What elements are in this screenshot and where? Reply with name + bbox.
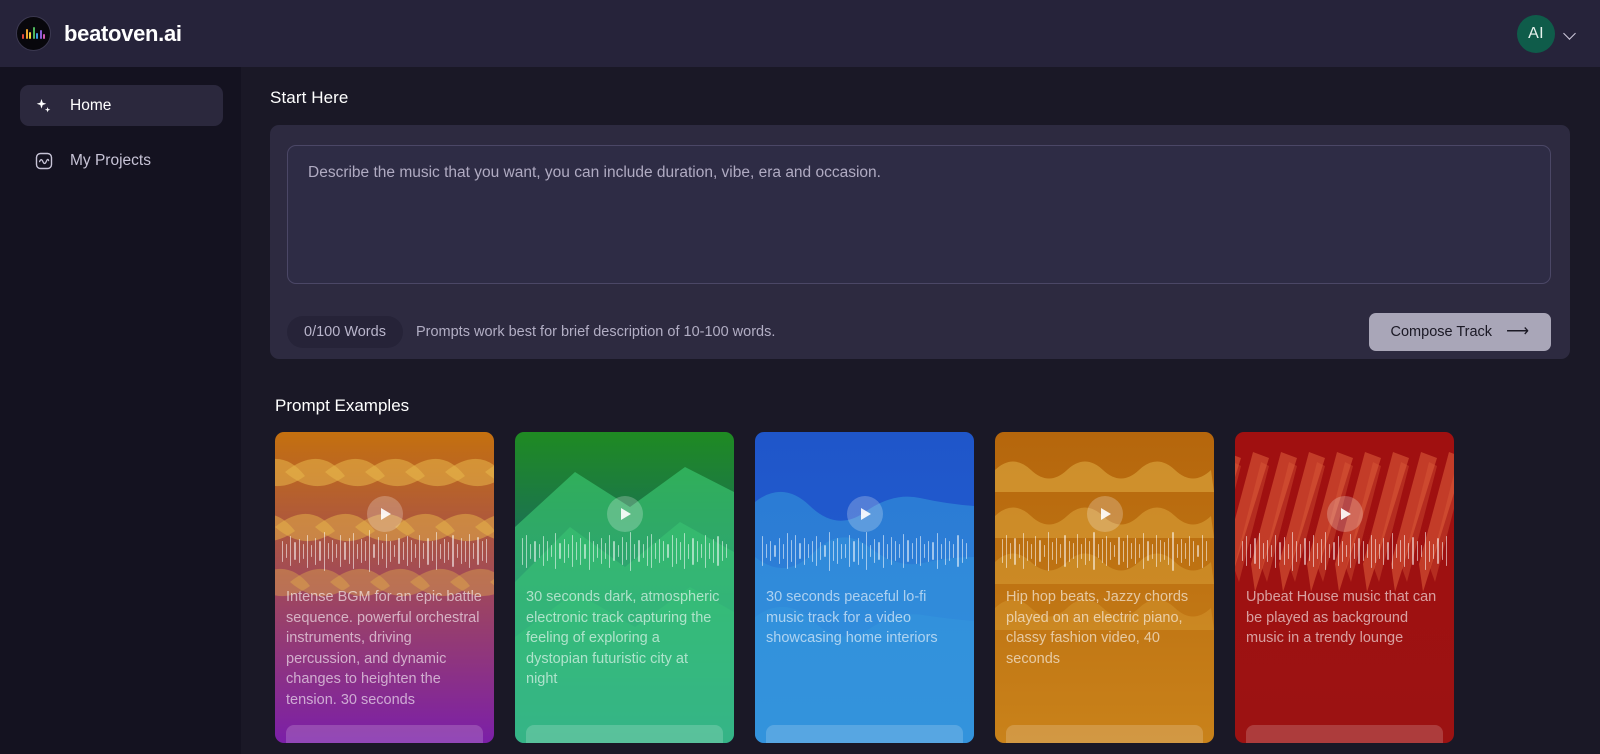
waveform-bar bbox=[713, 539, 714, 563]
waveform-bar bbox=[1358, 538, 1359, 564]
waveform-bar bbox=[1185, 543, 1186, 560]
waveform-bar bbox=[386, 534, 387, 569]
sidebar: Home My Projects bbox=[0, 67, 241, 754]
waveform-bar bbox=[1329, 544, 1330, 558]
waveform-bar bbox=[1321, 539, 1322, 563]
waveform-bar bbox=[357, 544, 358, 559]
waveform-bar bbox=[866, 532, 867, 570]
waveform-bar bbox=[1371, 535, 1372, 568]
waveform-bar bbox=[1296, 541, 1297, 562]
waveform-bar bbox=[1396, 544, 1397, 558]
waveform-bar bbox=[1346, 545, 1347, 557]
waveform-bar bbox=[1288, 544, 1289, 559]
waveform-bar bbox=[770, 541, 771, 561]
waveform-bar bbox=[290, 536, 291, 566]
waveform-bar bbox=[766, 544, 767, 558]
waveform-bar bbox=[403, 542, 404, 560]
waveform-bar bbox=[916, 538, 917, 564]
waveform-bar bbox=[1284, 537, 1285, 566]
waveform-bar bbox=[1442, 542, 1443, 560]
prompt-example-card[interactable]: Hip hop beats, Jazzy chords played on an… bbox=[995, 432, 1214, 743]
prompt-hint: Prompts work best for brief description … bbox=[416, 324, 775, 340]
waveform-bar bbox=[722, 541, 723, 561]
waveform-bar bbox=[543, 536, 544, 566]
waveform-bar bbox=[1002, 539, 1003, 563]
waveform-bar bbox=[461, 538, 462, 564]
waveform-bar bbox=[1118, 537, 1119, 566]
waveform-bar bbox=[315, 538, 316, 565]
logo-bar bbox=[36, 33, 38, 39]
waveform-bar bbox=[941, 544, 942, 559]
waveform-bar bbox=[1421, 545, 1422, 557]
waveform-bar bbox=[1085, 538, 1086, 565]
waveform-bar bbox=[1089, 541, 1090, 561]
waveform-bar bbox=[1060, 544, 1061, 558]
waveform-bar bbox=[282, 541, 283, 562]
waveform-bar bbox=[568, 544, 569, 558]
waveform-bar bbox=[783, 544, 784, 559]
card-waveform bbox=[282, 529, 487, 573]
waveform-bar bbox=[584, 544, 585, 559]
waveform-bar bbox=[1338, 536, 1339, 566]
waveform-bar bbox=[564, 539, 565, 563]
waveform-bar bbox=[411, 540, 412, 563]
waveform-bar bbox=[373, 544, 374, 558]
card-prompt-text: 30 seconds peaceful lo-fi music track fo… bbox=[766, 587, 963, 649]
waveform-bar bbox=[1069, 541, 1070, 562]
waveform-bar bbox=[328, 543, 329, 560]
waveform-bar bbox=[1425, 532, 1426, 570]
waveform-bar bbox=[593, 541, 594, 562]
waveform-bar bbox=[779, 538, 780, 564]
waveform-bar bbox=[448, 542, 449, 560]
waveform-bar bbox=[1325, 532, 1326, 570]
waveform-bar bbox=[643, 544, 644, 558]
card-prompt-text: Upbeat House music that can be played as… bbox=[1246, 587, 1443, 649]
waveform-bar bbox=[787, 533, 788, 569]
sidebar-item-my-projects[interactable]: My Projects bbox=[20, 140, 223, 181]
waveform-bar bbox=[1160, 540, 1161, 563]
waveform-bar bbox=[394, 545, 395, 557]
app-header: beatoven.ai AI bbox=[0, 0, 1600, 67]
play-icon[interactable] bbox=[607, 496, 643, 532]
waveform-bar bbox=[589, 532, 590, 570]
equalizer-logo-icon bbox=[16, 16, 51, 51]
waveform-bar bbox=[1313, 535, 1314, 567]
waveform-bar bbox=[672, 535, 673, 567]
waveform-bar bbox=[1202, 535, 1203, 568]
waveform-bar bbox=[684, 533, 685, 569]
waveform-bar bbox=[432, 541, 433, 561]
waveform-bar bbox=[547, 541, 548, 561]
waveform-bar bbox=[482, 541, 483, 561]
waveform-bar bbox=[580, 538, 581, 565]
waveform-bar bbox=[849, 535, 850, 567]
waveform-bar bbox=[1052, 542, 1053, 560]
waveform-bar bbox=[1446, 536, 1447, 566]
waveform-bar bbox=[928, 541, 929, 562]
prompt-examples-title: Prompt Examples bbox=[275, 396, 1570, 416]
card-prompt-text: Hip hop beats, Jazzy chords played on an… bbox=[1006, 587, 1203, 669]
waveform-bar bbox=[692, 538, 693, 565]
card-prompt-text: Intense BGM for an epic battle sequence.… bbox=[286, 587, 483, 710]
waveform-bar bbox=[1333, 542, 1334, 560]
waveform-bar bbox=[1400, 540, 1401, 563]
waveform-bar bbox=[436, 532, 437, 570]
waveform-bar bbox=[398, 538, 399, 564]
waveform-bar bbox=[1304, 538, 1305, 565]
waveform-bar bbox=[319, 541, 320, 561]
sidebar-item-label: My Projects bbox=[70, 152, 151, 170]
waveform-bar bbox=[613, 541, 614, 561]
waveform-bar bbox=[1152, 544, 1153, 559]
waveform-bar bbox=[953, 544, 954, 558]
waveform-bar bbox=[812, 541, 813, 562]
waveform-bar bbox=[1292, 532, 1293, 571]
waveform-bar bbox=[622, 537, 623, 566]
waveform-bar bbox=[618, 545, 619, 557]
waveform-bar bbox=[1131, 543, 1132, 560]
waveform-bar bbox=[651, 534, 652, 569]
waveform-bar bbox=[1350, 534, 1351, 569]
waveform-bar bbox=[361, 539, 362, 563]
waveform-bar bbox=[1387, 542, 1388, 560]
waveform-bar bbox=[655, 543, 656, 560]
waveform-bar bbox=[1168, 538, 1169, 565]
waveform-bar bbox=[1127, 535, 1128, 568]
prompt-example-card[interactable]: 30 seconds dark, atmospheric electronic … bbox=[515, 432, 734, 743]
waveform-bar bbox=[899, 544, 900, 558]
waveform-bar bbox=[427, 538, 428, 565]
waveform-bar bbox=[630, 532, 631, 571]
waveform-bar bbox=[423, 543, 424, 560]
waveform-bar bbox=[1014, 538, 1015, 565]
waveform-bar bbox=[895, 541, 896, 561]
waveform-bar bbox=[726, 544, 727, 558]
waveform-bar bbox=[534, 541, 535, 562]
waveform-bar bbox=[1177, 544, 1178, 558]
prompt-example-card[interactable]: Upbeat House music that can be played as… bbox=[1235, 432, 1454, 743]
waveform-bar bbox=[349, 538, 350, 564]
waveform-bar bbox=[369, 530, 370, 572]
waveform-bar bbox=[1342, 541, 1343, 562]
card-action-button[interactable] bbox=[526, 725, 723, 743]
brand[interactable]: beatoven.ai bbox=[16, 16, 182, 51]
waveform-bar bbox=[1375, 539, 1376, 563]
waveform-bar bbox=[1077, 534, 1078, 569]
waveform-bar bbox=[676, 538, 677, 564]
waveform-bar bbox=[1433, 544, 1434, 559]
waveform-bar bbox=[452, 535, 453, 567]
waveform-bar bbox=[912, 543, 913, 560]
waveform-bar bbox=[1073, 543, 1074, 560]
waveform-bar bbox=[378, 537, 379, 566]
compose-footer: 0/100 Words Prompts work best for brief … bbox=[287, 313, 1551, 351]
waveform-bar bbox=[303, 544, 304, 559]
waveform-bar bbox=[841, 544, 842, 559]
waveform-bar bbox=[1172, 532, 1173, 571]
waveform-bar bbox=[907, 540, 908, 563]
prompt-input[interactable] bbox=[287, 145, 1551, 284]
waveform-bar bbox=[862, 543, 863, 560]
waveform-bar bbox=[340, 535, 341, 567]
waveform-bar bbox=[1354, 543, 1355, 560]
prompt-example-card[interactable]: Intense BGM for an epic battle sequence.… bbox=[275, 432, 494, 743]
waveform-bar bbox=[1044, 545, 1045, 557]
waveform-bar bbox=[344, 542, 345, 560]
waveform-bar bbox=[1246, 536, 1247, 566]
logo-bar bbox=[29, 32, 31, 39]
header-right: AI bbox=[1517, 15, 1578, 53]
waveform-bar bbox=[680, 542, 681, 560]
waveform-bar bbox=[1010, 543, 1011, 560]
waveform-bar bbox=[903, 534, 904, 569]
waveform-bar bbox=[1181, 539, 1182, 563]
waveform-bar bbox=[1197, 545, 1198, 557]
waveform-bar bbox=[804, 538, 805, 565]
waveform-bar bbox=[1250, 544, 1251, 558]
waveform-bar bbox=[1048, 532, 1049, 571]
waveform-bar bbox=[1027, 541, 1028, 561]
waveform-bar bbox=[390, 541, 391, 562]
waveform-bar bbox=[1031, 544, 1032, 559]
waveform-bar bbox=[1317, 543, 1318, 560]
waveform-bar bbox=[837, 538, 838, 564]
logo-bar bbox=[26, 29, 28, 39]
waveform-bar bbox=[1379, 544, 1380, 559]
waveform-bar bbox=[526, 535, 527, 568]
waveform-bar bbox=[945, 538, 946, 565]
prompt-example-card[interactable]: 30 seconds peaceful lo-fi music track fo… bbox=[755, 432, 974, 743]
waveform-bar bbox=[1363, 541, 1364, 561]
waveform-bar bbox=[1123, 541, 1124, 562]
waveform-bar bbox=[1114, 545, 1115, 557]
waveform-bar bbox=[1081, 544, 1082, 559]
waveform-bar bbox=[1267, 540, 1268, 563]
waveform-bar bbox=[1429, 541, 1430, 562]
waveform-bar bbox=[709, 543, 710, 560]
waveform-bar bbox=[1367, 544, 1368, 558]
waveform-bar bbox=[891, 537, 892, 566]
waveform-bar bbox=[1309, 541, 1310, 561]
waveform-bar bbox=[1193, 541, 1194, 562]
waveform-bar bbox=[1039, 540, 1040, 563]
waveform-bar bbox=[415, 544, 416, 558]
waveform-bar bbox=[551, 545, 552, 557]
play-icon[interactable] bbox=[1087, 496, 1123, 532]
waveform-bar bbox=[924, 544, 925, 558]
waveform-bar bbox=[1263, 543, 1264, 560]
waveform-bar bbox=[407, 536, 408, 566]
waveform-bar bbox=[833, 541, 834, 561]
waveform-bar bbox=[1417, 541, 1418, 561]
waveform-bar bbox=[609, 535, 610, 568]
main-content: Start Here 0/100 Words Prompts work best… bbox=[241, 67, 1600, 754]
card-action-button[interactable] bbox=[766, 725, 963, 743]
waveform-bar bbox=[762, 536, 763, 566]
waveform-bar bbox=[795, 535, 796, 568]
sidebar-item-home[interactable]: Home bbox=[20, 85, 223, 126]
waveform-bar bbox=[962, 539, 963, 563]
waveform-bar bbox=[444, 539, 445, 563]
waveform-bar bbox=[824, 545, 825, 557]
play-icon[interactable] bbox=[847, 496, 883, 532]
waveform-bar bbox=[336, 544, 337, 558]
waveform-bar bbox=[530, 544, 531, 559]
waveform-bar bbox=[469, 534, 470, 569]
waveform-bar bbox=[663, 541, 664, 561]
waveform-bar bbox=[870, 545, 871, 557]
waveform-bar bbox=[1156, 535, 1157, 567]
waveform-bar bbox=[473, 543, 474, 560]
play-icon[interactable] bbox=[1327, 496, 1363, 532]
waveform-bar bbox=[1135, 538, 1136, 564]
waveform-square-icon bbox=[34, 151, 54, 171]
waveform-bar bbox=[774, 545, 775, 557]
waveform-bar bbox=[465, 541, 466, 562]
waveform-bar bbox=[791, 540, 792, 563]
waveform-bar bbox=[1279, 542, 1280, 560]
waveform-bar bbox=[1093, 532, 1094, 570]
waveform-bar bbox=[1412, 537, 1413, 566]
logo-bar bbox=[40, 30, 42, 39]
arrow-right-icon: ⟶ bbox=[1506, 324, 1529, 340]
waveform-bar bbox=[382, 543, 383, 560]
waveform-bar bbox=[659, 539, 660, 563]
compose-track-label: Compose Track bbox=[1391, 324, 1493, 340]
avatar[interactable]: AI bbox=[1517, 15, 1555, 53]
waveform-bar bbox=[486, 539, 487, 563]
waveform-bar bbox=[638, 540, 639, 563]
waveform-bar bbox=[601, 538, 602, 564]
chevron-down-icon[interactable] bbox=[1564, 27, 1578, 41]
waveform-bar bbox=[957, 535, 958, 567]
waveform-bar bbox=[937, 533, 938, 569]
waveform-bar bbox=[874, 539, 875, 563]
card-action-button[interactable] bbox=[1246, 725, 1443, 743]
waveform-bar bbox=[1271, 545, 1272, 557]
sidebar-item-label: Home bbox=[70, 97, 111, 115]
logo-bar bbox=[22, 34, 24, 39]
waveform-bar bbox=[966, 543, 967, 560]
waveform-bar bbox=[1064, 535, 1065, 567]
waveform-bar bbox=[1006, 535, 1007, 568]
card-waveform bbox=[1242, 529, 1447, 573]
waveform-bar bbox=[1259, 533, 1260, 569]
waveform-bar bbox=[688, 544, 689, 559]
waveform-bar bbox=[697, 541, 698, 562]
waveform-bar bbox=[887, 544, 888, 559]
waveform-bar bbox=[419, 535, 420, 568]
page-title: Start Here bbox=[270, 88, 1570, 108]
waveform-bar bbox=[605, 543, 606, 560]
waveform-bar bbox=[1019, 544, 1020, 558]
waveform-bar bbox=[1254, 538, 1255, 564]
waveform-bar bbox=[1437, 538, 1438, 564]
waveform-bar bbox=[1404, 535, 1405, 567]
waveform-bar bbox=[1300, 544, 1301, 558]
waveform-bar bbox=[307, 535, 308, 568]
card-waveform bbox=[522, 529, 727, 573]
waveform-bar bbox=[1102, 539, 1103, 563]
logo-bar bbox=[33, 27, 35, 39]
waveform-bar bbox=[808, 544, 809, 558]
waveform-bar bbox=[1110, 542, 1111, 560]
waveform-bar bbox=[1242, 541, 1243, 561]
waveform-bar bbox=[1106, 536, 1107, 566]
waveform-bar bbox=[829, 532, 830, 571]
prompt-example-cards: Intense BGM for an epic battle sequence.… bbox=[275, 432, 1570, 743]
waveform-bar bbox=[1206, 541, 1207, 561]
compose-panel: 0/100 Words Prompts work best for brief … bbox=[270, 125, 1570, 359]
waveform-bar bbox=[299, 539, 300, 563]
waveform-bar bbox=[477, 537, 478, 566]
waveform-bar bbox=[816, 536, 817, 566]
waveform-bar bbox=[647, 536, 648, 566]
waveform-bar bbox=[717, 536, 718, 566]
waveform-bar bbox=[324, 532, 325, 571]
waveform-bar bbox=[799, 543, 800, 560]
waveform-bar bbox=[332, 540, 333, 563]
waveform-bar bbox=[1275, 535, 1276, 568]
waveform-bar bbox=[667, 544, 668, 558]
waveform-bar bbox=[1189, 536, 1190, 566]
waveform-bar bbox=[858, 538, 859, 565]
waveform-bar bbox=[353, 533, 354, 569]
waveform-bar bbox=[853, 541, 854, 562]
waveform-bar bbox=[1164, 542, 1165, 560]
waveform-bar bbox=[949, 541, 950, 561]
waveform-bar bbox=[365, 541, 366, 561]
waveform-bar bbox=[597, 544, 598, 558]
waveform-bar bbox=[522, 538, 523, 565]
waveform-bar bbox=[1056, 538, 1057, 564]
waveform-bar bbox=[294, 542, 295, 560]
play-icon[interactable] bbox=[367, 496, 403, 532]
waveform-bar bbox=[1392, 533, 1393, 569]
waveform-bar bbox=[440, 544, 441, 559]
waveform-bar bbox=[920, 536, 921, 566]
logo-bar bbox=[43, 34, 45, 39]
waveform-bar bbox=[1035, 536, 1036, 566]
waveform-bar bbox=[1139, 544, 1140, 558]
waveform-bar bbox=[705, 535, 706, 568]
card-action-button[interactable] bbox=[286, 725, 483, 743]
card-action-button[interactable] bbox=[1006, 725, 1203, 743]
waveform-bar bbox=[1383, 538, 1384, 565]
compose-track-button[interactable]: Compose Track ⟶ bbox=[1369, 313, 1551, 351]
waveform-bar bbox=[878, 542, 879, 560]
waveform-bar bbox=[572, 535, 573, 567]
word-count-badge: 0/100 Words bbox=[287, 316, 403, 348]
waveform-bar bbox=[845, 544, 846, 558]
waveform-bar bbox=[457, 544, 458, 558]
waveform-bar bbox=[626, 542, 627, 560]
waveform-bar bbox=[539, 544, 540, 558]
card-waveform bbox=[1002, 529, 1207, 573]
waveform-bar bbox=[701, 544, 702, 558]
waveform-bar bbox=[1023, 533, 1024, 569]
waveform-bar bbox=[820, 542, 821, 560]
waveform-bar bbox=[634, 544, 635, 559]
waveform-bar bbox=[932, 542, 933, 560]
waveform-bar bbox=[559, 543, 560, 560]
card-waveform bbox=[762, 529, 967, 573]
waveform-bar bbox=[1408, 543, 1409, 560]
waveform-bar bbox=[1147, 541, 1148, 561]
waveform-bar bbox=[1098, 544, 1099, 558]
waveform-bar bbox=[555, 533, 556, 569]
